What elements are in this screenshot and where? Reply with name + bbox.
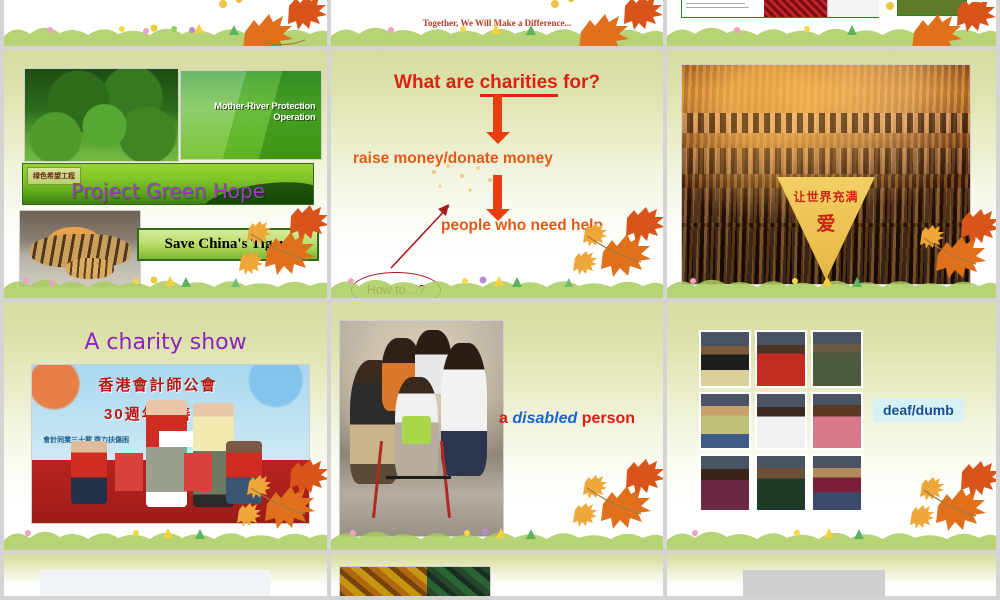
how-to-pointer-arrow bbox=[379, 198, 459, 273]
down-arrow-2 bbox=[493, 175, 502, 210]
portrait-photo bbox=[40, 570, 270, 596]
charity-show-photo: 香港會計師公會 30週年慈善步行 會計同業三十載 齊力扶傷困 bbox=[31, 364, 310, 524]
graffiti-wall-photo bbox=[339, 566, 491, 596]
slide-thumbnail-row1-col3[interactable]: 科技之光 bbox=[667, 0, 996, 46]
child-photo-9 bbox=[811, 454, 863, 512]
forest-photo bbox=[24, 68, 179, 162]
slide-disabled-person[interactable]: a disabled person bbox=[331, 302, 663, 550]
title-part-2: for? bbox=[558, 72, 600, 93]
child-photo-3 bbox=[811, 330, 863, 388]
project-green-hope-banner: 绿色希望工程 Project Green Hope bbox=[22, 163, 314, 205]
river-photo-caption: Mother-River Protection Operation bbox=[187, 101, 316, 123]
slide-subtitle-text: Together, We Will Make a Difference... bbox=[331, 18, 663, 28]
person-seated-right bbox=[226, 441, 262, 504]
slide-grid-deck[interactable]: Charity Walk 2007 Together, We Will Make… bbox=[0, 0, 1000, 600]
slide-bottom-right-partial[interactable]: 为盲人走盲道 bbox=[667, 554, 996, 596]
child-photo-7 bbox=[699, 454, 751, 512]
slide-green-hope[interactable]: Mother-River Protection Operation 绿色希望工程… bbox=[4, 50, 327, 298]
child-photo-5 bbox=[755, 392, 807, 450]
step-people-need-help: people who need help bbox=[441, 217, 603, 235]
wheelchair-helpers-photo bbox=[339, 320, 504, 537]
slide-thumbnail-title[interactable]: Charity Walk 2007 Together, We Will Make… bbox=[331, 0, 663, 46]
title-underlined-word: charities bbox=[480, 72, 558, 97]
charity-concert-crowd-photo: 让世界充满 爱 bbox=[681, 64, 971, 285]
step-raise-money: raise money/donate money bbox=[353, 150, 663, 168]
charity-show-title: A charity show bbox=[4, 330, 327, 355]
slide-bottom-center-partial[interactable] bbox=[331, 554, 663, 596]
embedded-slide-preview-b bbox=[897, 0, 967, 16]
label-keyword: disabled bbox=[512, 410, 577, 427]
embedded-slide-preview-a: 科技之光 bbox=[681, 0, 879, 18]
street-banner-photo: 为盲人走盲道 bbox=[743, 570, 885, 596]
slide-charities-for[interactable]: What are charities for? raise money/dona… bbox=[331, 50, 663, 298]
deaf-dumb-label: deaf/dumb bbox=[873, 398, 964, 422]
wheelchair-bar bbox=[386, 476, 451, 479]
chair-right bbox=[184, 453, 212, 491]
label-article: a bbox=[499, 410, 512, 427]
cheque-prop bbox=[159, 431, 192, 447]
slide-deaf-dumb[interactable]: deaf/dumb bbox=[667, 302, 996, 550]
person-seated-left bbox=[71, 441, 107, 504]
save-tigers-text: Save China's Tigers bbox=[165, 236, 292, 253]
slide-bottom-left-partial[interactable] bbox=[4, 554, 327, 596]
helper-right bbox=[441, 343, 487, 476]
person-red-center bbox=[146, 400, 188, 507]
chair-left bbox=[115, 453, 143, 491]
slide-thumbnail-row1-col1[interactable] bbox=[4, 0, 327, 46]
project-green-hope-title: Project Green Hope bbox=[23, 179, 313, 203]
backdrop-line-1: 香港會計師公會 bbox=[98, 374, 217, 395]
charities-question-title: What are charities for? bbox=[331, 72, 663, 94]
slide-crowd-love[interactable]: 让世界充满 爱 bbox=[667, 50, 996, 298]
slide-background bbox=[4, 0, 327, 46]
title-part-1: What are bbox=[394, 72, 480, 93]
sign-line-1: 让世界充满 bbox=[777, 188, 875, 205]
save-tigers-banner: Save China's Tigers bbox=[137, 228, 319, 261]
child-photo-4 bbox=[699, 392, 751, 450]
slide-charity-show[interactable]: A charity show 香港會計師公會 30週年慈善步行 會計同業三十載 … bbox=[4, 302, 327, 550]
label-noun: person bbox=[577, 410, 635, 427]
down-arrow-1 bbox=[493, 95, 502, 133]
river-photo: Mother-River Protection Operation bbox=[180, 70, 322, 160]
child-photo-1 bbox=[699, 330, 751, 388]
child-photo-8 bbox=[755, 454, 807, 512]
tiger-photo bbox=[19, 210, 141, 287]
sign-language-children-grid bbox=[699, 330, 863, 512]
green-bucket bbox=[402, 416, 431, 444]
child-photo-2 bbox=[755, 330, 807, 388]
disabled-person-label: a disabled person bbox=[499, 410, 635, 428]
child-photo-6 bbox=[811, 392, 863, 450]
